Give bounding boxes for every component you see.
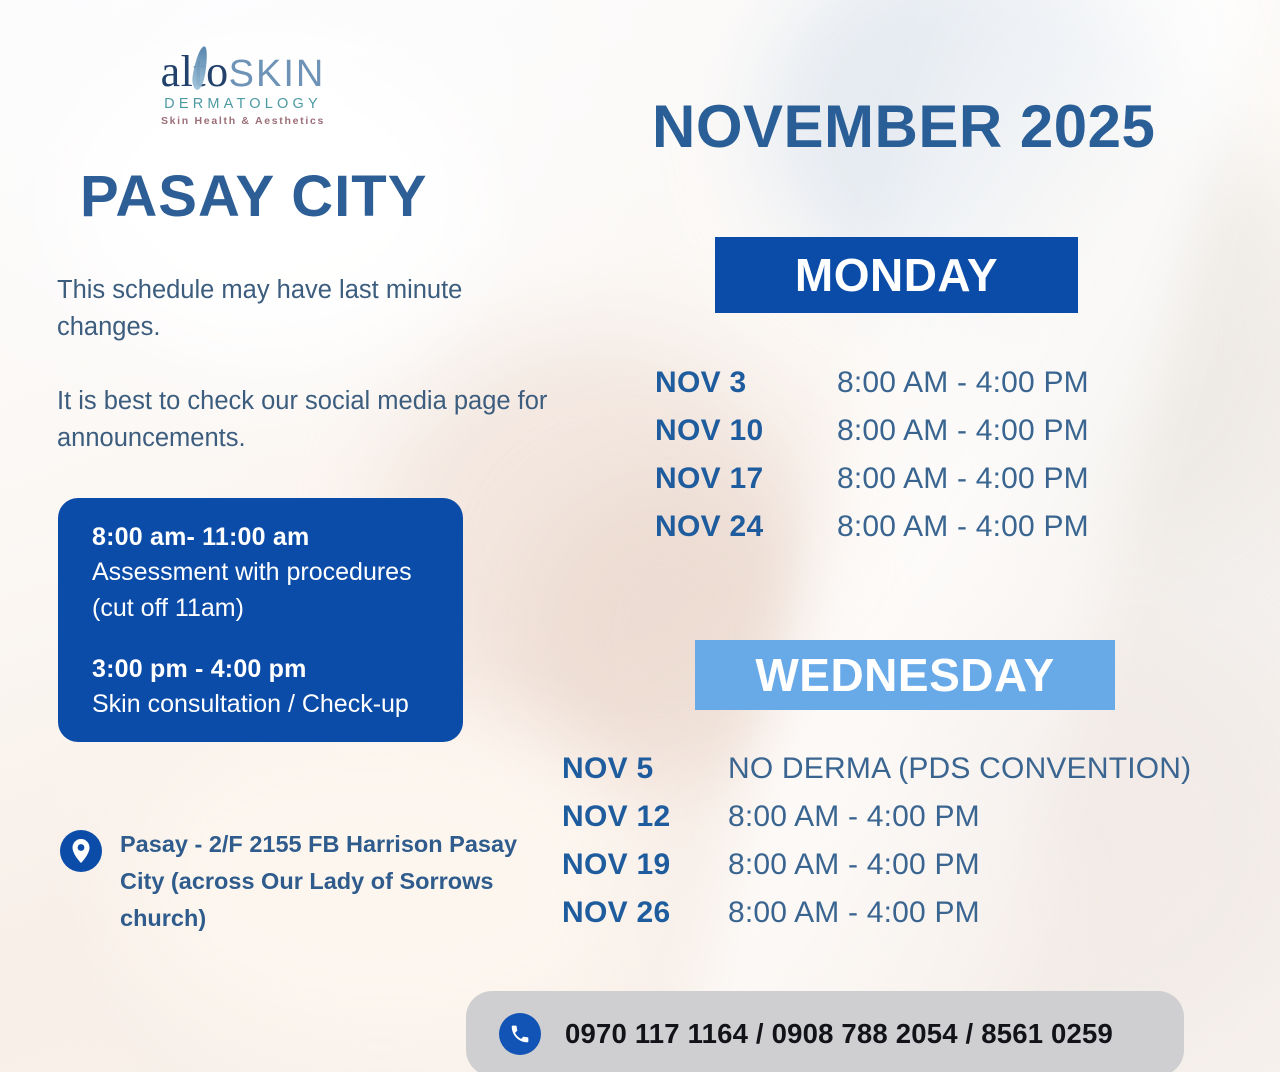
poster-canvas: altoSKIN DERMATOLOGY Skin Health & Aesth… [0,0,1280,1072]
schedule-date: NOV 26 [562,896,728,930]
schedule-row: NOV 24 8:00 AM - 4:00 PM [655,510,1089,558]
day-header-monday: MONDAY [715,237,1078,313]
clinic-address: Pasay - 2/F 2155 FB Harrison Pasay City … [60,826,540,937]
schedule-row: NOV 26 8:00 AM - 4:00 PM [562,896,1191,944]
schedule-row: NOV 12 8:00 AM - 4:00 PM [562,800,1191,848]
phone-icon [499,1013,541,1055]
schedule-time: NO DERMA (PDS CONVENTION) [728,752,1191,786]
schedule-date: NOV 24 [655,510,837,544]
schedule-time: 8:00 AM - 4:00 PM [728,896,980,930]
schedule-row: NOV 10 8:00 AM - 4:00 PM [655,414,1089,462]
schedule-row: NOV 5 NO DERMA (PDS CONVENTION) [562,752,1191,800]
note-line-2: It is best to check our social media pag… [57,383,557,457]
schedule-date: NOV 17 [655,462,837,496]
schedule-date: NOV 12 [562,800,728,834]
schedule-time: 8:00 AM - 4:00 PM [728,848,980,882]
morning-description: Assessment with procedures (cut off 11am… [92,554,437,626]
schedule-time: 8:00 AM - 4:00 PM [837,510,1089,544]
morning-time: 8:00 am- 11:00 am [92,520,437,554]
schedule-date: NOV 5 [562,752,728,786]
logo-skin-text: SKIN [229,53,326,95]
note-line-1: This schedule may have last minute chang… [57,272,557,346]
schedule-row: NOV 3 8:00 AM - 4:00 PM [655,366,1089,414]
schedule-date: NOV 19 [562,848,728,882]
schedule-list-monday: NOV 3 8:00 AM - 4:00 PM NOV 10 8:00 AM -… [655,366,1089,558]
schedule-time: 8:00 AM - 4:00 PM [837,462,1089,496]
phone-numbers: 0970 117 1164 / 0908 788 2054 / 8561 025… [565,1018,1113,1050]
schedule-date: NOV 10 [655,414,837,448]
logo-wordmark: altoSKIN [148,50,338,94]
schedule-time: 8:00 AM - 4:00 PM [837,414,1089,448]
schedule-row: NOV 19 8:00 AM - 4:00 PM [562,848,1191,896]
month-title: NOVEMBER 2025 [652,92,1155,161]
location-pin-icon [60,830,102,872]
schedule-time: 8:00 AM - 4:00 PM [728,800,980,834]
day-header-wednesday: WEDNESDAY [695,640,1115,710]
contact-bar: 0970 117 1164 / 0908 788 2054 / 8561 025… [466,991,1184,1072]
schedule-time: 8:00 AM - 4:00 PM [837,366,1089,400]
schedule-list-wednesday: NOV 5 NO DERMA (PDS CONVENTION) NOV 12 8… [562,752,1191,944]
logo-tagline: Skin Health & Aesthetics [148,115,338,127]
address-text: Pasay - 2/F 2155 FB Harrison Pasay City … [120,826,540,937]
schedule-row: NOV 17 8:00 AM - 4:00 PM [655,462,1089,510]
brand-logo: altoSKIN DERMATOLOGY Skin Health & Aesth… [148,50,338,127]
city-title: PASAY CITY [80,163,427,230]
logo-subtitle: DERMATOLOGY [148,96,338,112]
afternoon-time: 3:00 pm - 4:00 pm [92,652,437,686]
hours-card: 8:00 am- 11:00 am Assessment with proced… [58,498,463,742]
afternoon-description: Skin consultation / Check-up [92,686,437,722]
schedule-notes: This schedule may have last minute chang… [57,272,557,457]
schedule-date: NOV 3 [655,366,837,400]
